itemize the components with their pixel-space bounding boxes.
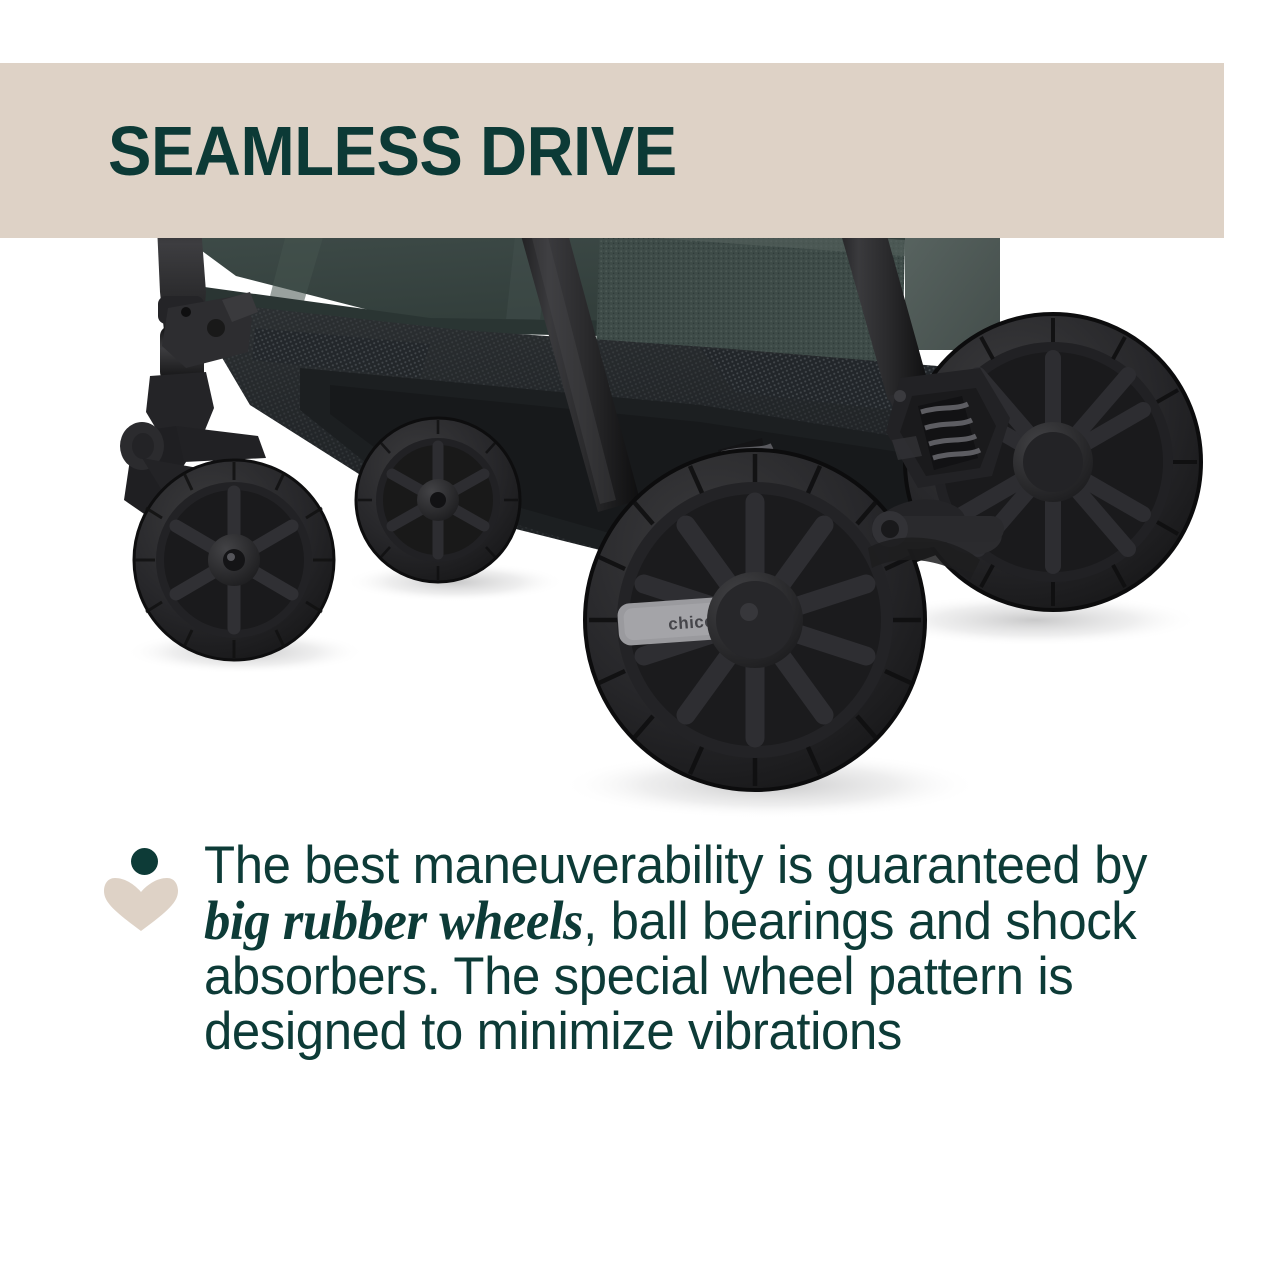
promo-slide: SEAMLESS DRIVE (0, 0, 1280, 1280)
page-title: SEAMLESS DRIVE (108, 116, 677, 186)
header-banner: SEAMLESS DRIVE (0, 63, 1224, 238)
feature-bullet: The best maneuverability is guaranteed b… (0, 838, 1280, 1059)
bullet-heart-shape-icon (104, 876, 178, 932)
bullet-text: The best maneuverability is guaranteed b… (204, 838, 1164, 1059)
bullet-dot-icon (131, 848, 158, 875)
bullet-text-emphasis: big rubber wheels (204, 890, 583, 951)
heart-bullet-icon (104, 838, 182, 930)
product-photo: chicco (0, 200, 1280, 840)
bullet-text-part-1: The best maneuverability is guaranteed b… (204, 836, 1147, 895)
